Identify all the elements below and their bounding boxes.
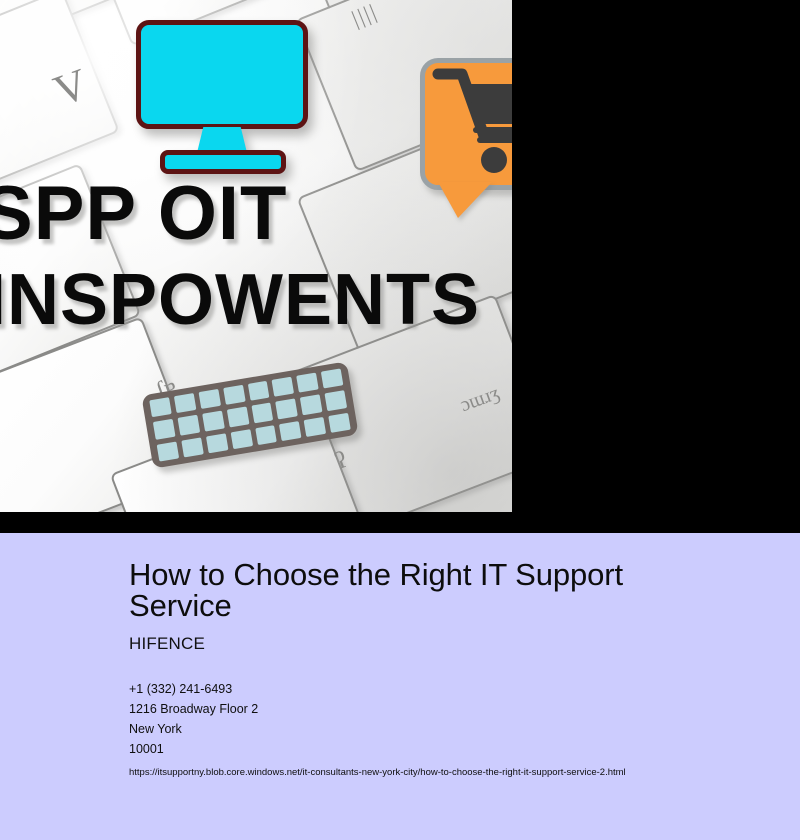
keyboard-key (157, 441, 179, 461)
keyboard-key (202, 411, 224, 431)
keyboard-key (153, 419, 175, 439)
keyboard-key (300, 395, 322, 415)
hero-headline-line2: INSPOWENTS (0, 264, 498, 336)
keyboard-key (325, 390, 347, 410)
hero-band: V |||| ʃɐ ɔɯɹʒ ʔ (0, 0, 800, 533)
page-root: V |||| ʃɐ ɔɯɹʒ ʔ (0, 0, 800, 840)
contact-phone[interactable]: +1 (332) 241-6493 (129, 679, 749, 699)
contact-block: +1 (332) 241-6493 1216 Broadway Floor 2 … (129, 679, 749, 759)
contact-postal-code: 10001 (129, 739, 749, 759)
hero-headline-line1: SPP OIT (0, 176, 494, 252)
contact-street: 1216 Broadway Floor 2 (129, 699, 749, 719)
contact-city: New York (129, 719, 749, 739)
keyboard-key (223, 385, 245, 405)
keyboard-key (181, 437, 203, 457)
keyboard-key (272, 377, 294, 397)
keyboard-key (279, 421, 301, 441)
keyboard-key (304, 417, 326, 437)
keyboard-key (321, 368, 343, 388)
keyboard-key (198, 389, 220, 409)
keyboard-key (247, 381, 269, 401)
page-title: How to Choose the Right IT Support Servi… (129, 559, 659, 621)
keyboard-key (149, 397, 171, 417)
keyboard-key (251, 403, 273, 423)
keyboard-key (206, 433, 228, 453)
keyboard-key (296, 373, 318, 393)
keyboard-key (328, 412, 350, 432)
keyboard-key (174, 393, 196, 413)
info-content: How to Choose the Right IT Support Servi… (129, 559, 749, 779)
monitor-icon (136, 20, 312, 170)
keyboard-key (276, 399, 298, 419)
keyboard-key (227, 407, 249, 427)
shopping-cart-icon (432, 62, 512, 182)
source-url[interactable]: https://itsupportny.blob.core.windows.ne… (129, 767, 749, 779)
keyboard-key (230, 429, 252, 449)
info-panel: How to Choose the Right IT Support Servi… (0, 533, 800, 840)
keyboard-key (177, 415, 199, 435)
brand-name: HIFENCE (129, 635, 749, 652)
monitor-screen (136, 20, 308, 129)
hero-image: V |||| ʃɐ ɔɯɹʒ ʔ (0, 0, 512, 512)
keyboard-key (255, 425, 277, 445)
